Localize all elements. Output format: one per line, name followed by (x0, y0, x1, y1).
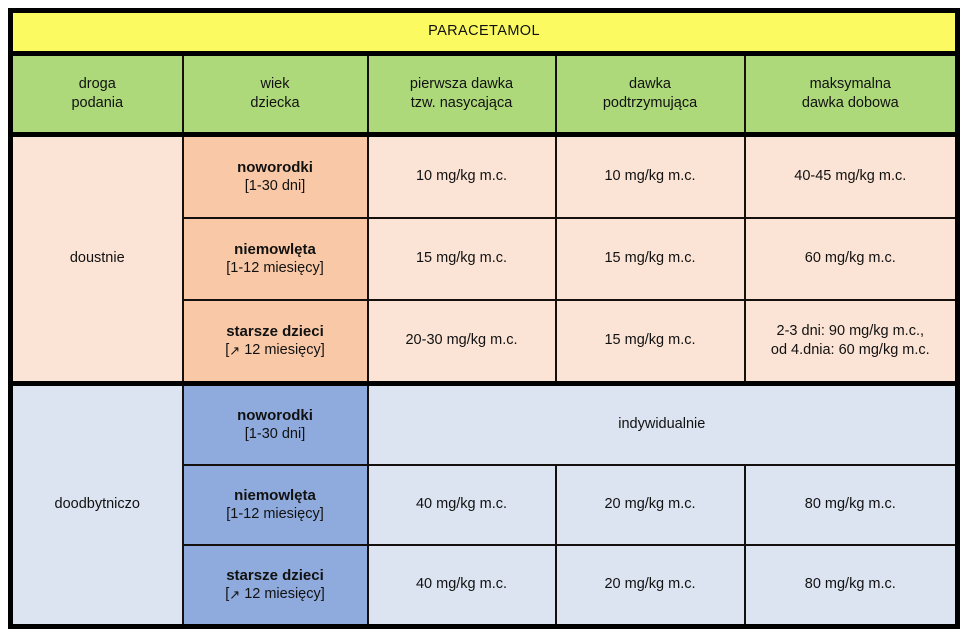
age-group-name: niemowlęta (188, 486, 363, 506)
table-row: doodbytniczo noworodki [1-30 dni] indywi… (11, 384, 958, 466)
column-header-first-dose-line1: pierwsza dawka (373, 75, 551, 94)
age-group-range: [1-30 dni] (188, 177, 363, 196)
age-group-range: [1-12 miesięcy] (188, 259, 363, 278)
column-header-first-dose-line2: tzw. nasycająca (373, 94, 551, 113)
age-group-name: noworodki (188, 406, 363, 426)
page-title: PARACETAMOL (11, 11, 958, 54)
age-group-range: [↗ 12 miesięcy] (188, 585, 363, 604)
column-header-max-daily-dose-line2: dawka dobowa (750, 94, 952, 113)
column-header-max-daily-dose-line1: maksymalna (750, 75, 952, 94)
max-daily-dose-value: 80 mg/kg m.c. (745, 545, 958, 627)
column-header-route: droga podania (11, 54, 183, 135)
age-group-name: starsze dzieci (188, 566, 363, 586)
age-group-name: niemowlęta (188, 240, 363, 260)
column-header-route-line1: droga (17, 75, 178, 94)
first-dose-value: 15 mg/kg m.c. (368, 218, 556, 300)
route-label-oral: doustnie (11, 135, 183, 384)
column-header-maintenance-dose-line1: dawka (561, 75, 740, 94)
first-dose-value: 40 mg/kg m.c. (368, 545, 556, 627)
title-row: PARACETAMOL (11, 11, 958, 54)
max-daily-dose-line1: 40-45 mg/kg m.c. (750, 167, 952, 186)
greater-than-arrow-icon: ↗ (229, 345, 240, 358)
age-group-cell: noworodki [1-30 dni] (183, 384, 368, 466)
table-row: doustnie noworodki [1-30 dni] 10 mg/kg m… (11, 135, 958, 219)
maintenance-dose-value: 15 mg/kg m.c. (556, 218, 745, 300)
age-group-range: [↗ 12 miesięcy] (188, 341, 363, 360)
age-group-cell: niemowlęta [1-12 miesięcy] (183, 465, 368, 545)
max-daily-dose-value: 2-3 dni: 90 mg/kg m.c., od 4.dnia: 60 mg… (745, 300, 958, 384)
route-label-rectal: doodbytniczo (11, 384, 183, 627)
age-group-name: noworodki (188, 158, 363, 178)
max-daily-dose-line1: 2-3 dni: 90 mg/kg m.c., (750, 322, 952, 341)
maintenance-dose-value: 10 mg/kg m.c. (556, 135, 745, 219)
column-header-max-daily-dose: maksymalna dawka dobowa (745, 54, 958, 135)
age-group-cell: noworodki [1-30 dni] (183, 135, 368, 219)
column-header-age-line2: dziecka (188, 94, 363, 113)
greater-than-arrow-icon: ↗ (229, 589, 240, 602)
dosage-sheet: PARACETAMOL droga podania wiek dziecka p… (0, 0, 963, 592)
column-header-maintenance-dose: dawka podtrzymująca (556, 54, 745, 135)
age-group-range: [1-12 miesięcy] (188, 505, 363, 524)
age-group-cell: starsze dzieci [↗ 12 miesięcy] (183, 545, 368, 627)
max-daily-dose-value: 40-45 mg/kg m.c. (745, 135, 958, 219)
max-daily-dose-value: 80 mg/kg m.c. (745, 465, 958, 545)
individual-dosing-note: indywidualnie (368, 384, 958, 466)
paracetamol-dosage-table: PARACETAMOL droga podania wiek dziecka p… (8, 8, 960, 629)
first-dose-value: 20-30 mg/kg m.c. (368, 300, 556, 384)
age-group-cell: starsze dzieci [↗ 12 miesięcy] (183, 300, 368, 384)
max-daily-dose-line2: od 4.dnia: 60 mg/kg m.c. (750, 341, 952, 360)
maintenance-dose-value: 20 mg/kg m.c. (556, 465, 745, 545)
age-group-cell: niemowlęta [1-12 miesięcy] (183, 218, 368, 300)
age-group-name: starsze dzieci (188, 322, 363, 342)
header-row: droga podania wiek dziecka pierwsza dawk… (11, 54, 958, 135)
column-header-route-line2: podania (17, 94, 178, 113)
column-header-age: wiek dziecka (183, 54, 368, 135)
max-daily-dose-line1: 60 mg/kg m.c. (750, 249, 952, 268)
maintenance-dose-value: 20 mg/kg m.c. (556, 545, 745, 627)
column-header-maintenance-dose-line2: podtrzymująca (561, 94, 740, 113)
age-group-range: [1-30 dni] (188, 425, 363, 444)
max-daily-dose-value: 60 mg/kg m.c. (745, 218, 958, 300)
first-dose-value: 10 mg/kg m.c. (368, 135, 556, 219)
first-dose-value: 40 mg/kg m.c. (368, 465, 556, 545)
max-daily-dose-line1: 80 mg/kg m.c. (750, 495, 952, 514)
maintenance-dose-value: 15 mg/kg m.c. (556, 300, 745, 384)
column-header-first-dose: pierwsza dawka tzw. nasycająca (368, 54, 556, 135)
column-header-age-line1: wiek (188, 75, 363, 94)
